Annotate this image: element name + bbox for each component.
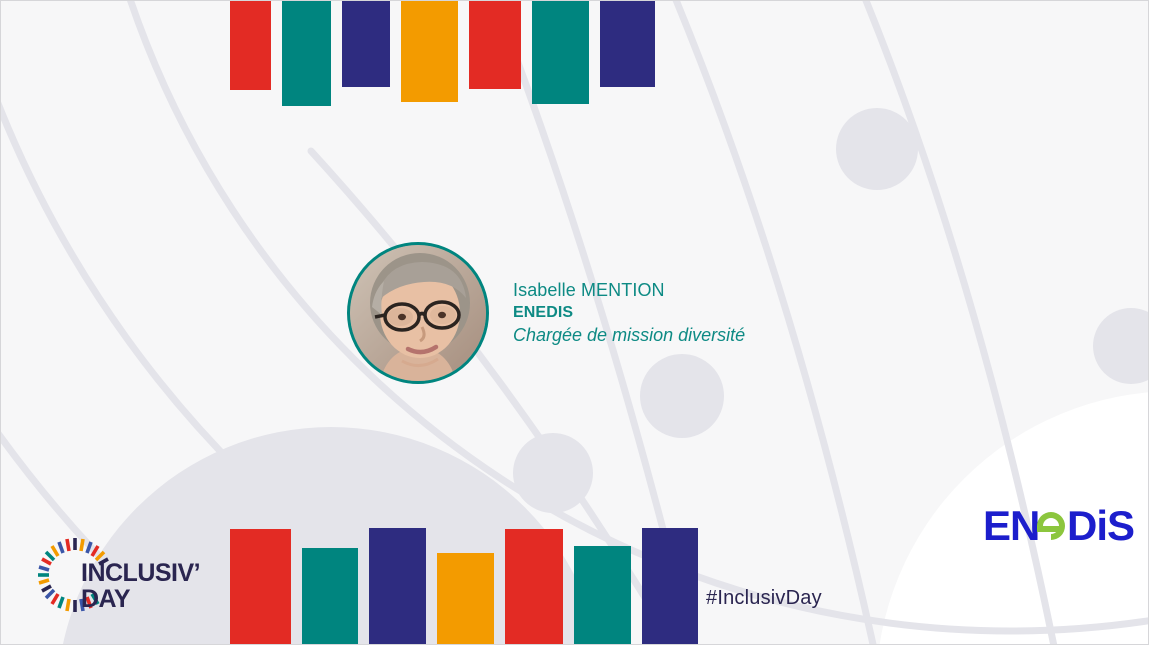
enedis-logo: EN DiS (983, 504, 1143, 548)
speaker-role: Chargée de mission diversité (513, 324, 745, 348)
decor-bar (369, 528, 426, 645)
enedis-e-green (1037, 512, 1065, 540)
inclusiv-day-logo: INCLUSIV’ DAY (29, 531, 199, 617)
logo-text-line1: INCLUSIV’ (81, 559, 199, 587)
decor-bar (401, 0, 458, 102)
speaker-text-block: Isabelle MENTION ENEDIS Chargée de missi… (513, 279, 745, 348)
enedis-wordmark-blue-1: EN (983, 504, 1039, 548)
presentation-slide: Isabelle MENTION ENEDIS Chargée de missi… (0, 0, 1149, 645)
portrait-photo-icon (350, 245, 486, 381)
logo-text-line2: DAY (81, 585, 131, 613)
decor-bars-bottom (230, 528, 698, 645)
decor-bar (437, 553, 494, 645)
speaker-organization: ENEDIS (513, 302, 745, 323)
speaker-name: Isabelle MENTION (513, 279, 745, 303)
decor-bar (230, 529, 291, 645)
decor-bar (282, 0, 331, 106)
decor-bar (342, 0, 390, 87)
decor-bar (230, 0, 271, 90)
decor-node-circle-1 (836, 108, 918, 190)
speaker-block: Isabelle MENTION ENEDIS Chargée de missi… (347, 242, 745, 384)
decor-bars-top (230, 0, 655, 106)
decor-bar (469, 0, 521, 89)
decor-bar (532, 0, 589, 104)
decor-bar (302, 548, 358, 645)
enedis-wordmark-blue-2: DiS (1067, 504, 1134, 548)
decor-bar (574, 546, 631, 645)
avatar (347, 242, 489, 384)
decor-bar (642, 528, 698, 645)
enedis-logo-icon: EN DiS (983, 504, 1143, 548)
decor-bar (600, 0, 655, 87)
decor-node-circle-4 (513, 433, 593, 513)
decor-bar (505, 529, 563, 645)
inclusiv-day-logo-icon: INCLUSIV’ DAY (29, 531, 199, 617)
event-hashtag: #InclusivDay (706, 587, 822, 610)
decor-node-circle-3 (1093, 308, 1148, 384)
